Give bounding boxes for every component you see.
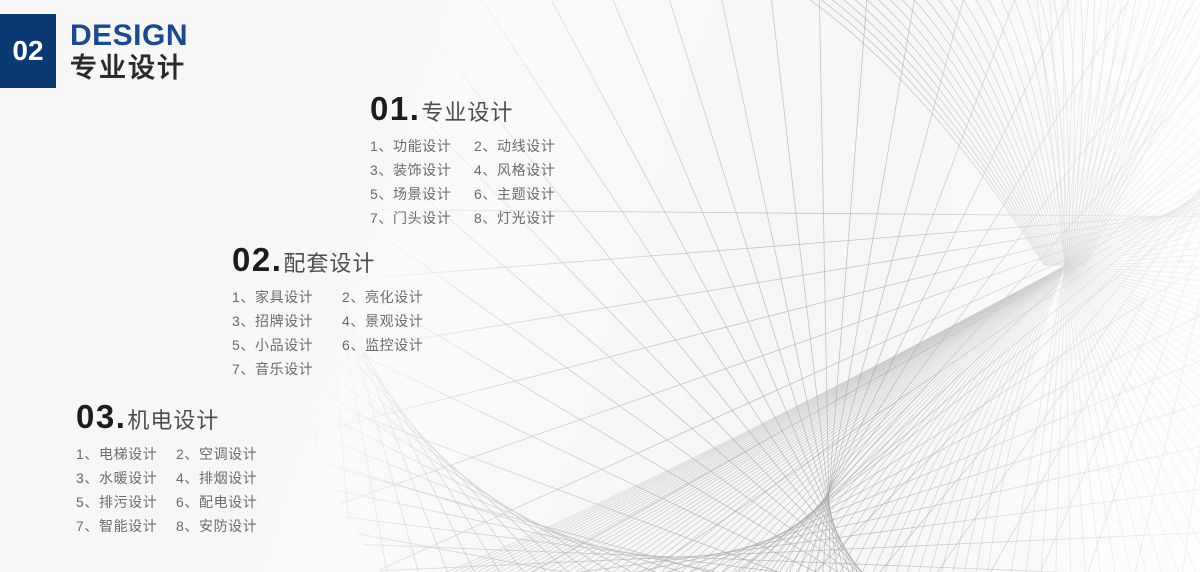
list-item: 1、功能设计 2、动线设计 — [370, 139, 555, 153]
list-item-cell: 5、场景设计 — [370, 187, 474, 201]
section-number-badge-label: 02 — [12, 37, 43, 65]
section-number: 01. — [370, 92, 420, 125]
list-item-cell: 5、排污设计 — [76, 495, 176, 509]
list-item-cell: 3、招牌设计 — [232, 314, 342, 328]
section-number-badge: 02 — [0, 14, 56, 88]
list-item: 3、水暖设计 4、排烟设计 — [76, 471, 257, 485]
list-item-cell: 6、监控设计 — [342, 338, 423, 352]
list-item: 3、招牌设计 4、景观设计 — [232, 314, 423, 328]
section-block-02: 02. 配套设计 1、家具设计 2、亮化设计 3、招牌设计 4、景观设计 5、小… — [232, 243, 423, 376]
list-item: 7、音乐设计 — [232, 362, 423, 376]
list-item-cell: 8、灯光设计 — [474, 211, 555, 225]
list-item-cell: 1、家具设计 — [232, 290, 342, 304]
page-title-cn: 专业设计 — [70, 54, 188, 84]
list-item-cell: 2、亮化设计 — [342, 290, 423, 304]
right-fade-overlay — [880, 0, 1200, 572]
list-item-cell: 2、空调设计 — [176, 447, 257, 461]
list-item: 7、智能设计 8、安防设计 — [76, 519, 257, 533]
list-item-cell: 6、主题设计 — [474, 187, 555, 201]
list-item-cell: 4、风格设计 — [474, 163, 555, 177]
list-item-cell: 4、排烟设计 — [176, 471, 257, 485]
list-item-cell: 7、音乐设计 — [232, 362, 342, 376]
section-name: 配套设计 — [283, 253, 375, 275]
section-number: 02. — [232, 243, 282, 276]
header-text-group: DESIGN 专业设计 — [70, 14, 188, 88]
section-block-01: 01. 专业设计 1、功能设计 2、动线设计 3、装饰设计 4、风格设计 5、场… — [370, 92, 555, 225]
slide-header: 02 DESIGN 专业设计 — [0, 14, 188, 88]
list-item: 5、场景设计 6、主题设计 — [370, 187, 555, 201]
section-number: 03. — [76, 400, 126, 433]
section-name: 机电设计 — [127, 410, 219, 432]
list-item-cell: 8、安防设计 — [176, 519, 257, 533]
list-item-cell: 1、电梯设计 — [76, 447, 176, 461]
list-item: 5、小品设计 6、监控设计 — [232, 338, 423, 352]
section-title: 03. 机电设计 — [76, 400, 257, 433]
section-name: 专业设计 — [421, 102, 513, 124]
list-item: 1、家具设计 2、亮化设计 — [232, 290, 423, 304]
list-item-cell: 7、智能设计 — [76, 519, 176, 533]
list-item: 7、门头设计 8、灯光设计 — [370, 211, 555, 225]
section-item-list: 1、功能设计 2、动线设计 3、装饰设计 4、风格设计 5、场景设计 6、主题设… — [370, 139, 555, 225]
section-item-list: 1、电梯设计 2、空调设计 3、水暖设计 4、排烟设计 5、排污设计 6、配电设… — [76, 447, 257, 533]
section-block-03: 03. 机电设计 1、电梯设计 2、空调设计 3、水暖设计 4、排烟设计 5、排… — [76, 400, 257, 533]
list-item-cell: 5、小品设计 — [232, 338, 342, 352]
list-item: 5、排污设计 6、配电设计 — [76, 495, 257, 509]
slide-root: 02 DESIGN 专业设计 01. 专业设计 1、功能设计 2、动线设计 3、… — [0, 0, 1200, 572]
page-title-en: DESIGN — [70, 20, 188, 52]
list-item-cell: 4、景观设计 — [342, 314, 423, 328]
list-item-cell: 1、功能设计 — [370, 139, 474, 153]
section-title: 02. 配套设计 — [232, 243, 423, 276]
section-item-list: 1、家具设计 2、亮化设计 3、招牌设计 4、景观设计 5、小品设计 6、监控设… — [232, 290, 423, 376]
list-item: 3、装饰设计 4、风格设计 — [370, 163, 555, 177]
section-title: 01. 专业设计 — [370, 92, 555, 125]
list-item-cell: 3、水暖设计 — [76, 471, 176, 485]
list-item: 1、电梯设计 2、空调设计 — [76, 447, 257, 461]
list-item-cell: 6、配电设计 — [176, 495, 257, 509]
list-item-cell: 2、动线设计 — [474, 139, 555, 153]
list-item-cell: 3、装饰设计 — [370, 163, 474, 177]
list-item-cell: 7、门头设计 — [370, 211, 474, 225]
